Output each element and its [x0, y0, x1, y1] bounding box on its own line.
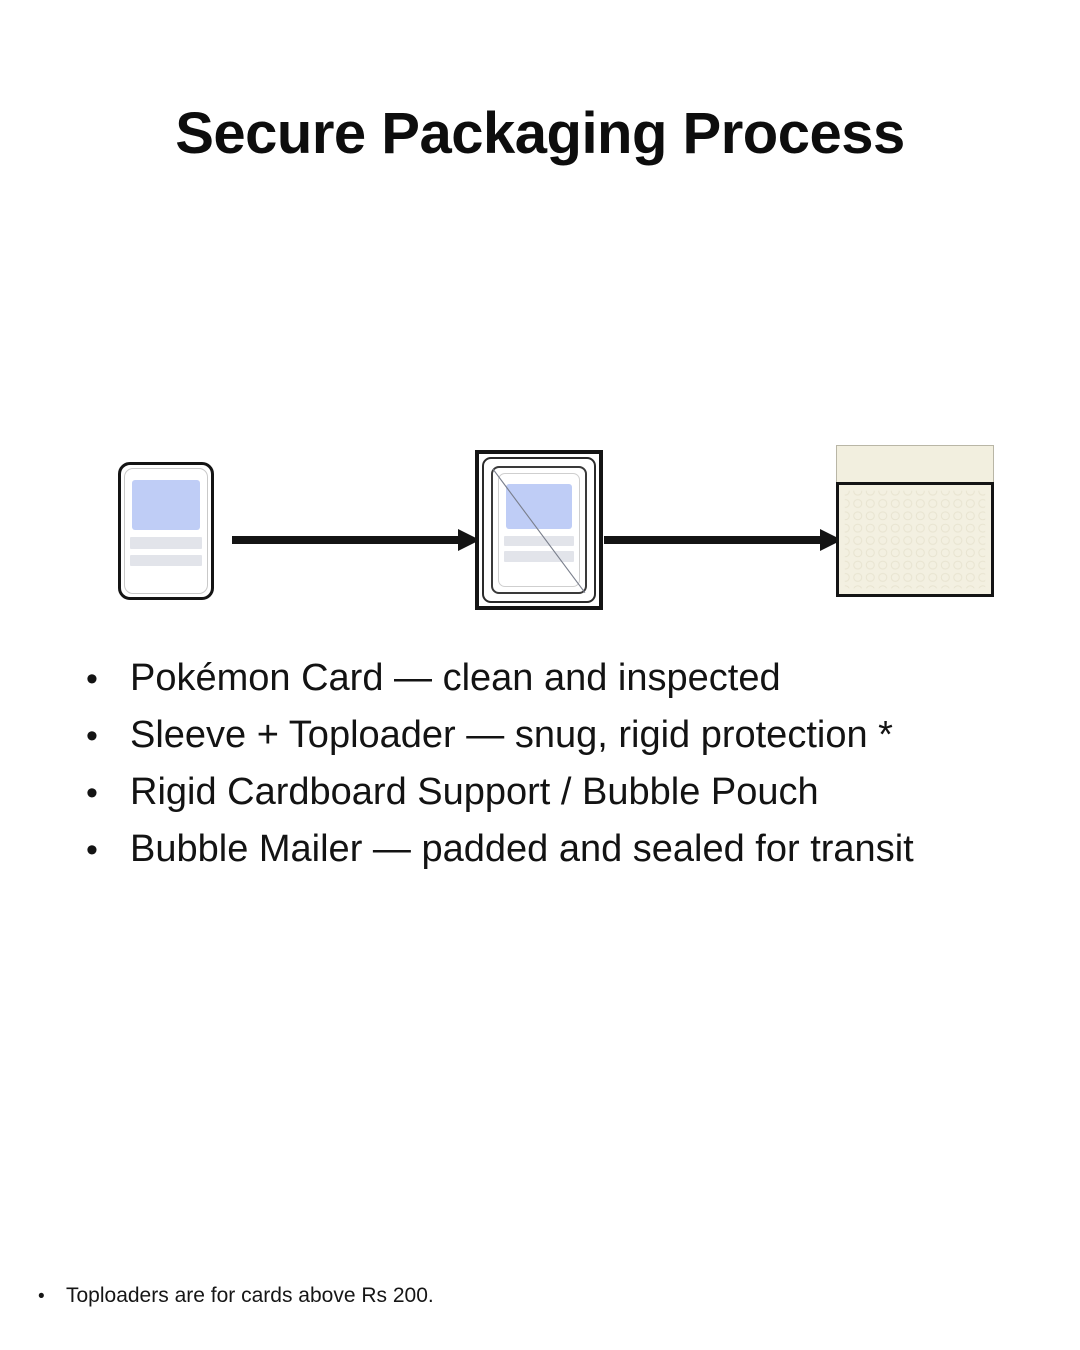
- list-item: • Sleeve + Toploader — snug, rigid prote…: [86, 707, 1046, 764]
- sleeved-card-text-bar-2: [504, 551, 574, 562]
- bullet-marker-icon: •: [86, 822, 130, 878]
- penny-sleeve: [491, 466, 587, 594]
- list-item: • Rigid Cardboard Support / Bubble Pouch: [86, 764, 1046, 821]
- arrow-toploader-to-mailer-icon: [604, 525, 842, 555]
- page-title: Secure Packaging Process: [0, 104, 1080, 165]
- list-item: • Bubble Mailer — padded and sealed for …: [86, 821, 1046, 878]
- stage-sleeve-toploader: [475, 450, 603, 610]
- list-item-label: Pokémon Card — clean and inspected: [130, 650, 1046, 706]
- sleeved-card: [498, 473, 580, 587]
- card-inner-frame: [124, 468, 208, 594]
- card-artwork-block: [132, 480, 199, 530]
- bullet-marker-icon: •: [86, 765, 130, 821]
- list-item-label: Rigid Cardboard Support / Bubble Pouch: [130, 764, 1046, 820]
- list-item-label: Bubble Mailer — padded and sealed for tr…: [130, 821, 1046, 877]
- stage-pokemon-card: [118, 462, 214, 600]
- packaging-flow-diagram: [0, 430, 1080, 630]
- footnote-bullet-marker-icon: •: [38, 1282, 66, 1312]
- card-text-bar-1: [130, 537, 202, 549]
- footnote-label: Toploaders are for cards above Rs 200.: [66, 1281, 434, 1311]
- mailer-body: [836, 482, 994, 597]
- sleeved-card-artwork-block: [506, 484, 572, 529]
- bullet-marker-icon: •: [86, 651, 130, 707]
- card-text-bar-2: [130, 555, 202, 567]
- toploader-lip: [482, 457, 596, 603]
- list-item-label: Sleeve + Toploader — snug, rigid protect…: [130, 707, 1046, 763]
- stage-bubble-mailer: [836, 445, 994, 597]
- list-item: • Pokémon Card — clean and inspected: [86, 650, 1046, 707]
- packaging-steps-list: • Pokémon Card — clean and inspected • S…: [86, 650, 1046, 878]
- footnote: • Toploaders are for cards above Rs 200.: [38, 1281, 938, 1312]
- bubble-texture-icon: [839, 485, 991, 594]
- mailer-flap: [836, 445, 994, 483]
- bullet-marker-icon: •: [86, 708, 130, 764]
- sleeved-card-text-bar-1: [504, 536, 574, 547]
- arrow-card-to-toploader-icon: [232, 525, 480, 555]
